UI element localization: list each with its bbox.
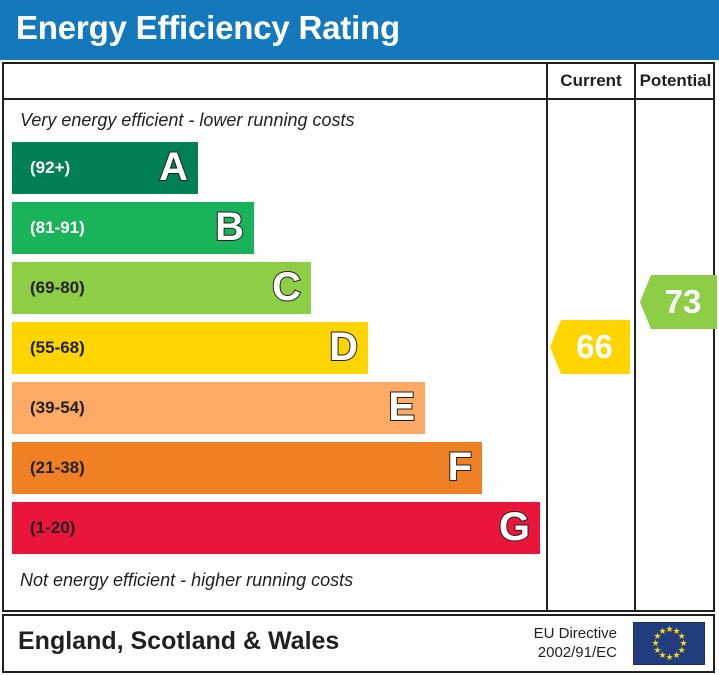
- footer-directive-line2: 2002/91/EC: [534, 643, 617, 662]
- band-range-c: (69-80): [30, 262, 85, 314]
- eu-flag-icon: ★★★★★★★★★★★★: [633, 622, 705, 665]
- chart-title-bar: Energy Efficiency Rating: [0, 0, 719, 60]
- band-range-e: (39-54): [30, 382, 85, 434]
- column-header-potential: Potential: [636, 64, 715, 98]
- footer-region-label: England, Scotland & Wales: [18, 627, 339, 656]
- eu-star: ★: [653, 647, 660, 654]
- band-range-g: (1-20): [30, 502, 75, 554]
- table-header-row: Current Potential: [4, 64, 713, 100]
- potential-rating-marker: 73: [640, 275, 717, 329]
- band-letter-e: E: [388, 382, 415, 434]
- caption-efficient: Very energy efficient - lower running co…: [20, 110, 530, 131]
- footer-directive: EU Directive 2002/91/EC: [534, 624, 617, 662]
- band-c: (69-80)C: [12, 262, 311, 314]
- band-letter-b: B: [215, 202, 244, 254]
- band-letter-c: C: [272, 262, 301, 314]
- column-divider-current: [546, 64, 548, 610]
- band-range-a: (92+): [30, 142, 70, 194]
- eu-star: ★: [659, 628, 666, 635]
- band-a: (92+)A: [12, 142, 198, 194]
- column-divider-potential: [634, 64, 636, 610]
- page-title: Energy Efficiency Rating: [16, 9, 400, 47]
- band-g: (1-20)G: [12, 502, 540, 554]
- band-range-d: (55-68): [30, 322, 85, 374]
- band-letter-a: A: [159, 142, 188, 194]
- band-range-f: (21-38): [30, 442, 85, 494]
- band-f: (21-38)F: [12, 442, 482, 494]
- band-e: (39-54)E: [12, 382, 425, 434]
- eu-star: ★: [652, 640, 659, 647]
- band-letter-g: G: [499, 502, 530, 554]
- band-range-b: (81-91): [30, 202, 85, 254]
- energy-efficiency-rating-chart: Energy Efficiency Rating Current Potenti…: [0, 0, 719, 675]
- footer-directive-line1: EU Directive: [534, 624, 617, 643]
- current-rating-marker: 66: [550, 320, 630, 374]
- chart-footer: England, Scotland & Wales EU Directive 2…: [2, 614, 715, 673]
- band-letter-f: F: [448, 442, 472, 494]
- band-list: (92+)A(81-91)B(69-80)C(55-68)D(39-54)E(2…: [12, 142, 546, 562]
- band-d: (55-68)D: [12, 322, 368, 374]
- caption-inefficient: Not energy efficient - higher running co…: [20, 570, 530, 591]
- rating-table: Current Potential Very energy efficient …: [2, 62, 715, 612]
- band-b: (81-91)B: [12, 202, 254, 254]
- band-chart-area: Very energy efficient - lower running co…: [4, 100, 546, 612]
- band-letter-d: D: [329, 322, 358, 374]
- column-header-current: Current: [548, 64, 634, 98]
